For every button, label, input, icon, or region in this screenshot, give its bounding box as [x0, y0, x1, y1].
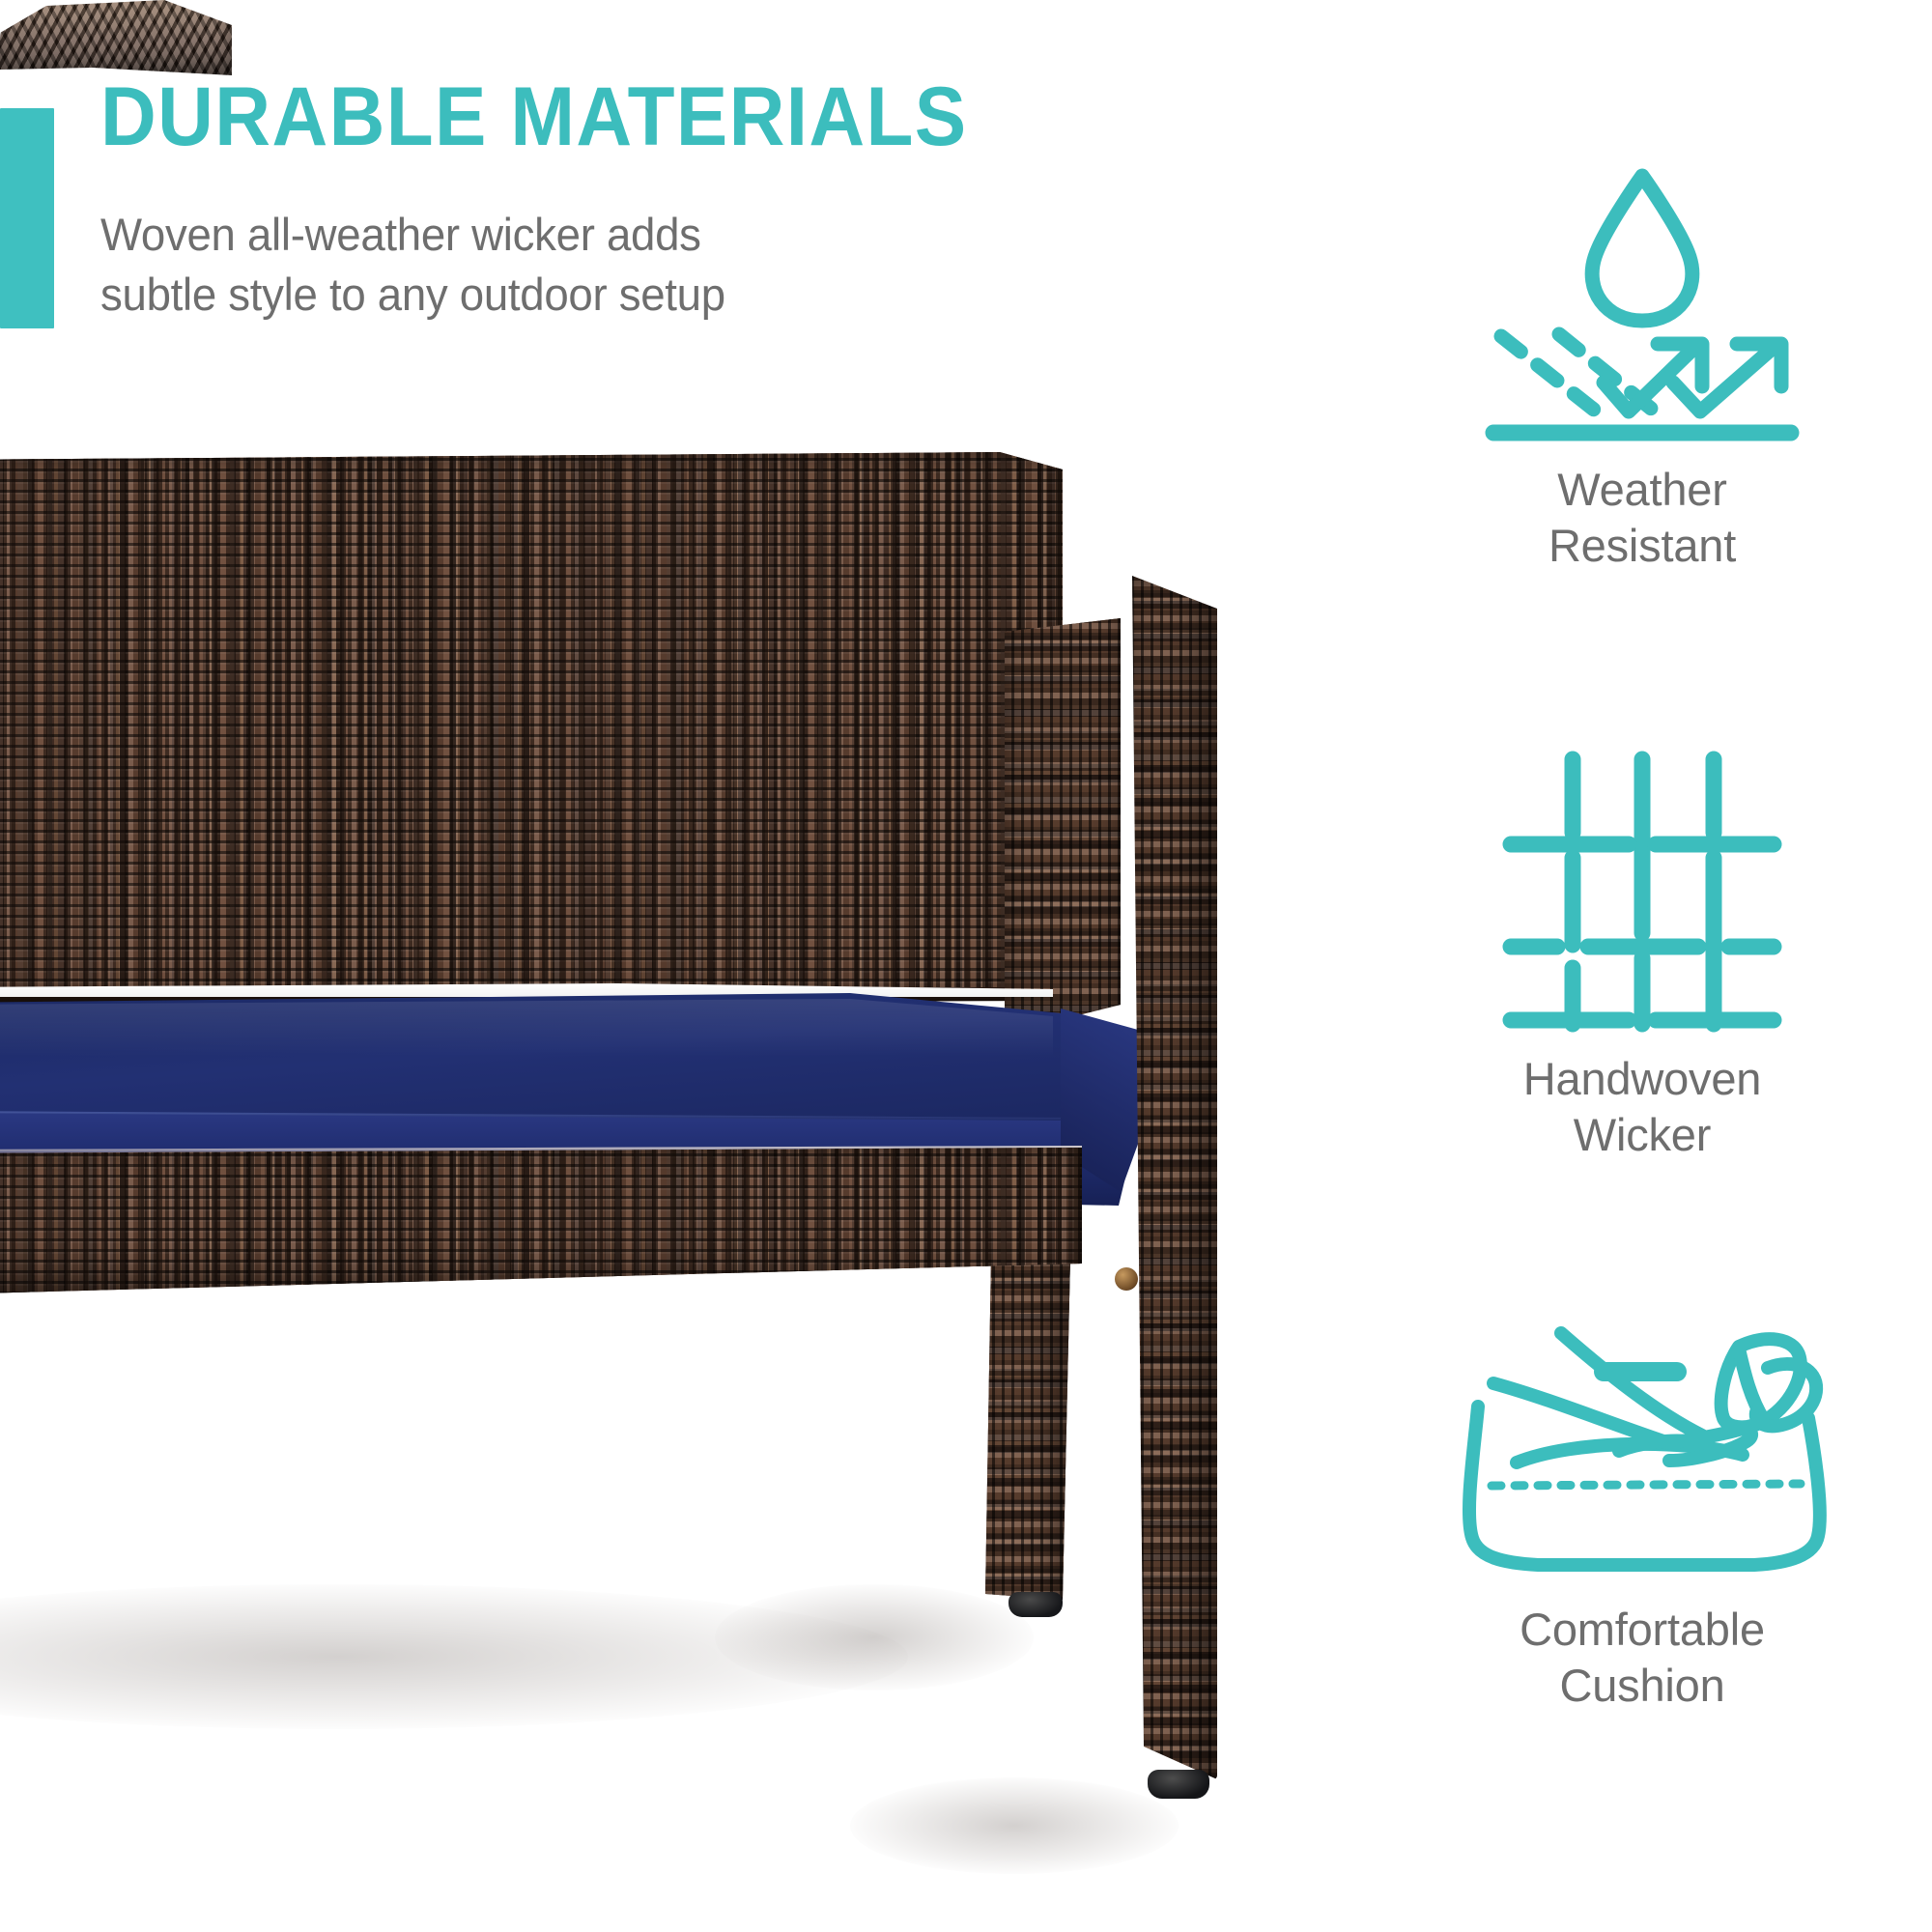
rear-leg-foot: [1009, 1592, 1063, 1617]
bench-seat-frame-rail: [0, 1148, 1082, 1294]
feature-label-line-2: Cushion: [1352, 1658, 1932, 1714]
feature-label-line-1: Handwoven: [1352, 1051, 1932, 1107]
armrest-inner-support: [1005, 618, 1121, 1034]
feature-label-comfortable-cushion: Comfortable Cushion: [1352, 1602, 1932, 1715]
front-leg-foot: [1148, 1770, 1209, 1799]
feature-label-line-2: Resistant: [1352, 518, 1932, 574]
floor-shadow-rear-leg: [715, 1584, 1034, 1690]
product-photo-bench: [0, 0, 1352, 1932]
feature-label-handwoven-wicker: Handwoven Wicker: [1352, 1051, 1932, 1164]
bench-armrest-top: [0, 0, 232, 75]
feature-item-handwoven-wicker: Handwoven Wicker: [1352, 734, 1932, 1164]
bench-armrest-post: [1124, 576, 1217, 1779]
feature-label-line-1: Comfortable: [1352, 1602, 1932, 1658]
feature-label-line-2: Wicker: [1352, 1107, 1932, 1163]
bench-backrest: [0, 452, 1063, 1012]
water-droplet-repellent-icon: [1352, 145, 1932, 454]
frame-bolt: [1115, 1267, 1138, 1291]
feature-list: Weather Resistant: [1352, 0, 1932, 1932]
feature-item-weather-resistant: Weather Resistant: [1352, 145, 1932, 575]
woven-grid-icon: [1352, 734, 1932, 1043]
feature-item-comfortable-cushion: Comfortable Cushion: [1352, 1285, 1932, 1715]
bench-rear-leg: [985, 1256, 1070, 1600]
hand-pressing-cushion-feather-icon: [1352, 1285, 1932, 1594]
feature-label-line-1: Weather: [1352, 462, 1932, 518]
floor-shadow-front-leg: [850, 1777, 1179, 1874]
feature-label-weather-resistant: Weather Resistant: [1352, 462, 1932, 575]
